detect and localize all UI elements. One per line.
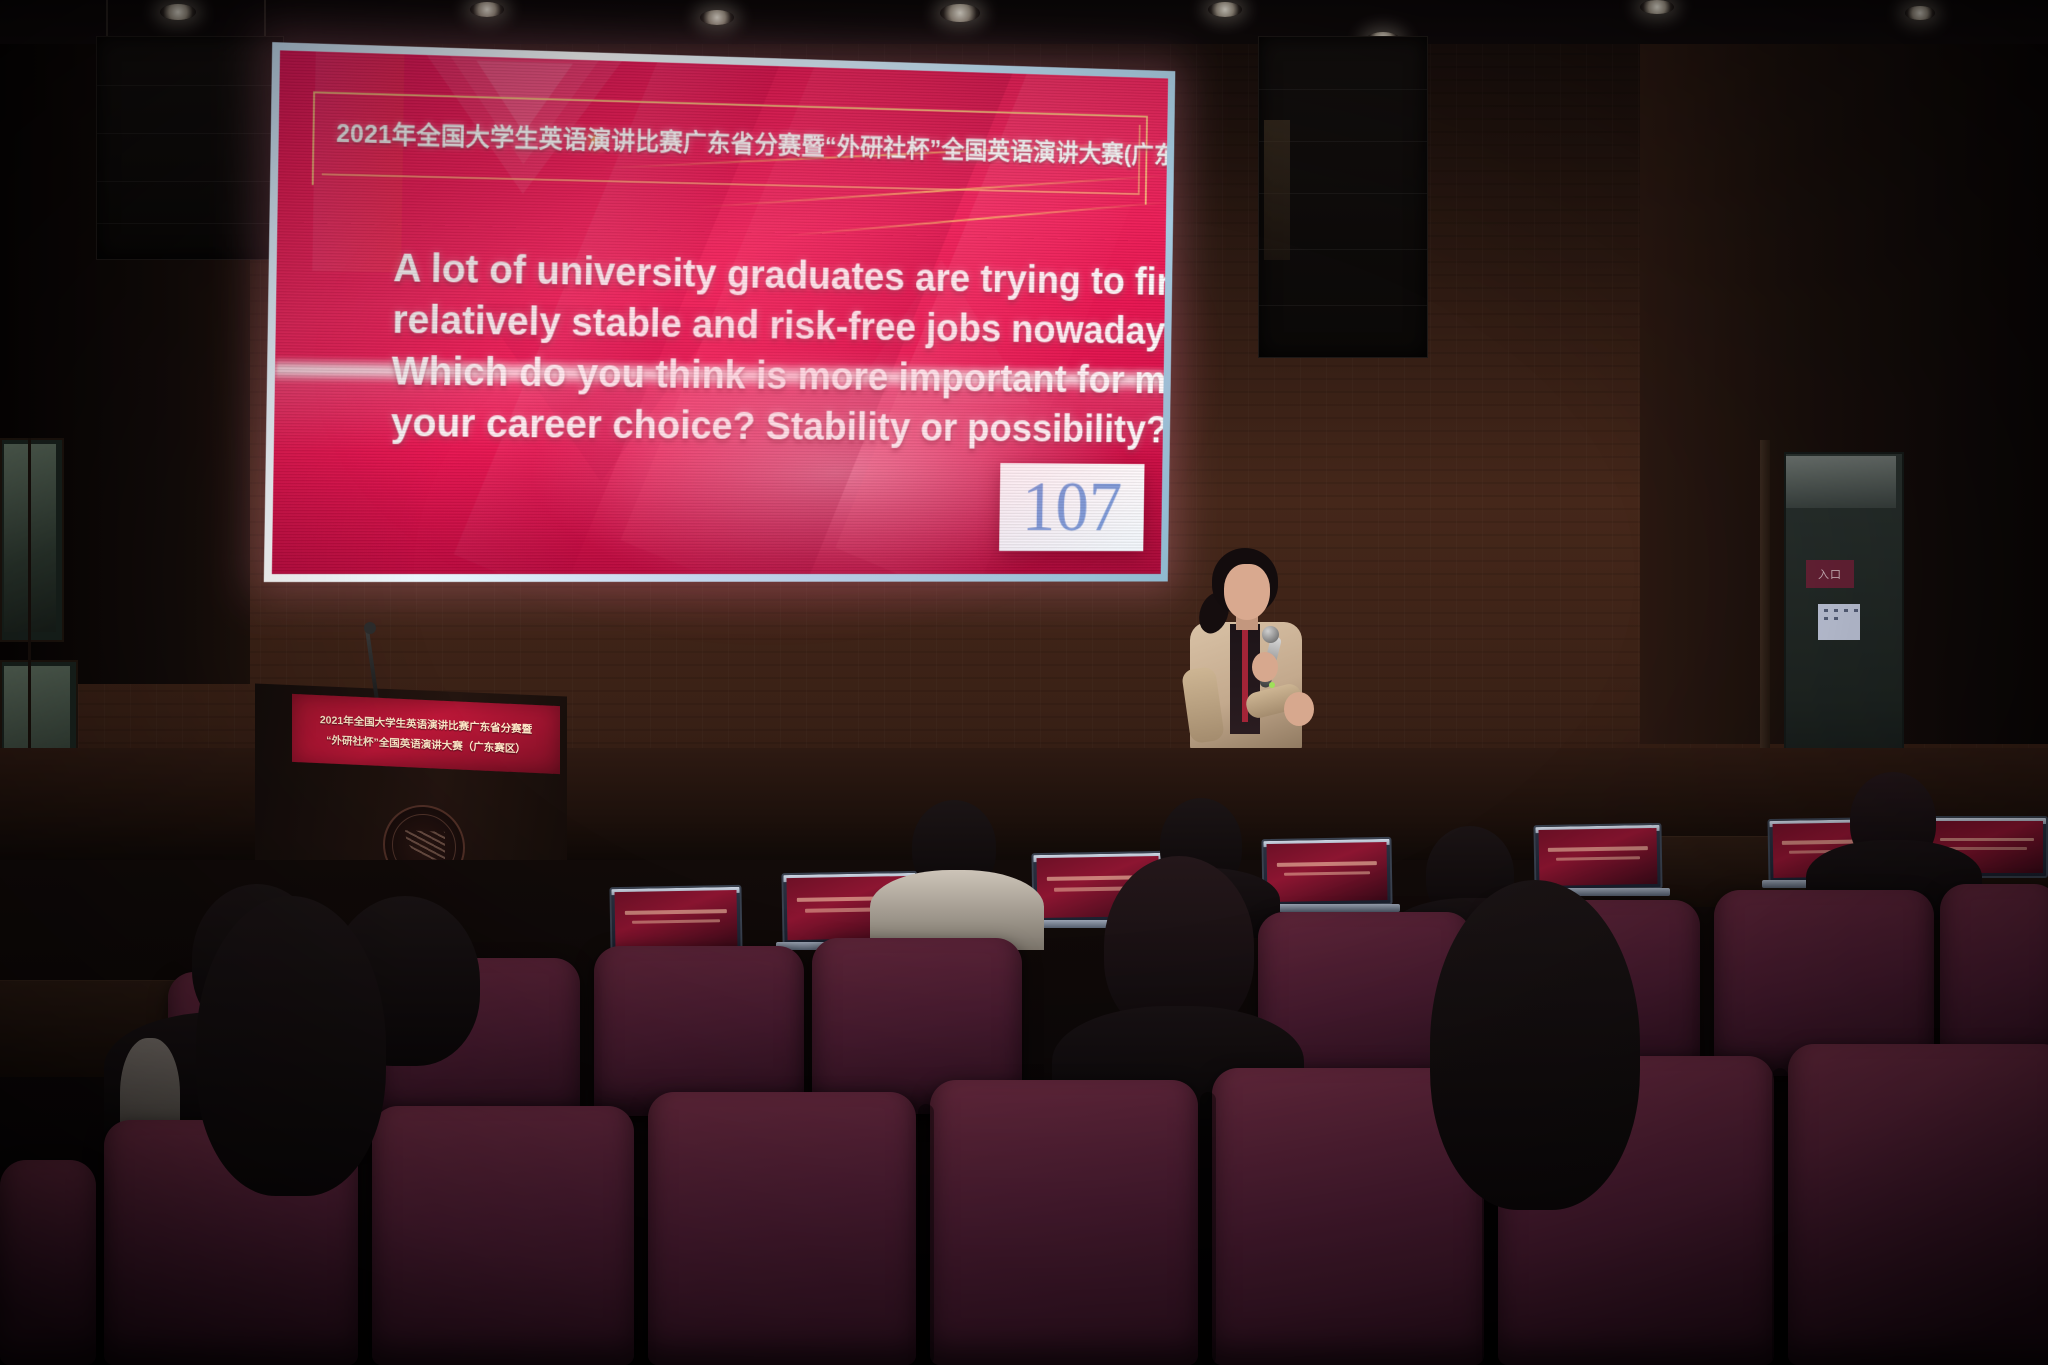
auditorium-seat[interactable] <box>594 946 804 1116</box>
contestant-number-card: 107 <box>999 463 1144 551</box>
auditorium-seat[interactable] <box>0 1160 96 1365</box>
contestant-number: 107 <box>1021 472 1122 543</box>
seat-divider <box>918 1104 934 1365</box>
line-array-speaker-left <box>96 36 284 260</box>
speaker-face <box>1224 564 1270 620</box>
audience-laptop[interactable] <box>609 885 742 955</box>
seat-divider <box>1200 1092 1216 1365</box>
audience-laptop[interactable] <box>1533 823 1662 891</box>
slide-body-line: Which do you think is more important for… <box>391 346 1114 405</box>
audience-head-foreground <box>196 896 386 1196</box>
auditorium-scene: 入口 <box>0 0 2048 1365</box>
auditorium-seat[interactable] <box>648 1092 916 1365</box>
ceiling-light <box>700 10 734 25</box>
auditorium-seat[interactable] <box>372 1106 634 1365</box>
speaker-stack-trim <box>1264 120 1290 260</box>
podium-banner-line2: “外研社杯”全国英语演讲大赛（广东赛区） <box>326 732 526 756</box>
ceiling-light <box>470 2 504 17</box>
slide-body-text: A lot of university graduates are trying… <box>390 243 1115 455</box>
audience-laptop[interactable] <box>1261 837 1392 907</box>
ceiling-light <box>1905 6 1935 20</box>
ceiling-light <box>1208 2 1242 17</box>
speaker-hand-left <box>1284 692 1314 726</box>
ceiling-light <box>940 4 980 22</box>
slide-surface: 2021年全国大学生英语演讲比赛广东省分赛暨“外研社杯”全国英语演讲大赛(广东赛… <box>272 50 1168 574</box>
audience-head-foreground <box>1430 880 1640 1210</box>
auditorium-seat[interactable] <box>1788 1044 2048 1365</box>
speaker-hand-right <box>1252 652 1278 682</box>
podium-microphone-head <box>364 622 376 634</box>
microphone-led <box>1269 682 1275 688</box>
speaker-hanging-cable <box>264 0 266 36</box>
projection-screen: 2021年全国大学生英语演讲比赛广东省分赛暨“外研社杯”全国英语演讲大赛(广东赛… <box>264 42 1176 582</box>
podium-banner: 2021年全国大学生英语演讲比赛广东省分赛暨 “外研社杯”全国英语演讲大赛（广东… <box>292 694 560 774</box>
ceiling-light <box>160 4 196 20</box>
door-entrance-sign: 入口 <box>1806 560 1854 588</box>
slide-body-line: your career choice? Stability or possibi… <box>390 397 1113 454</box>
seat-divider <box>1772 1068 1788 1365</box>
microphone-head <box>1262 626 1279 643</box>
door-notice-poster <box>1818 604 1860 640</box>
ceiling-light <box>1640 0 1674 14</box>
door-transom-glass <box>1786 456 1896 508</box>
auditorium-seat[interactable] <box>930 1080 1198 1365</box>
